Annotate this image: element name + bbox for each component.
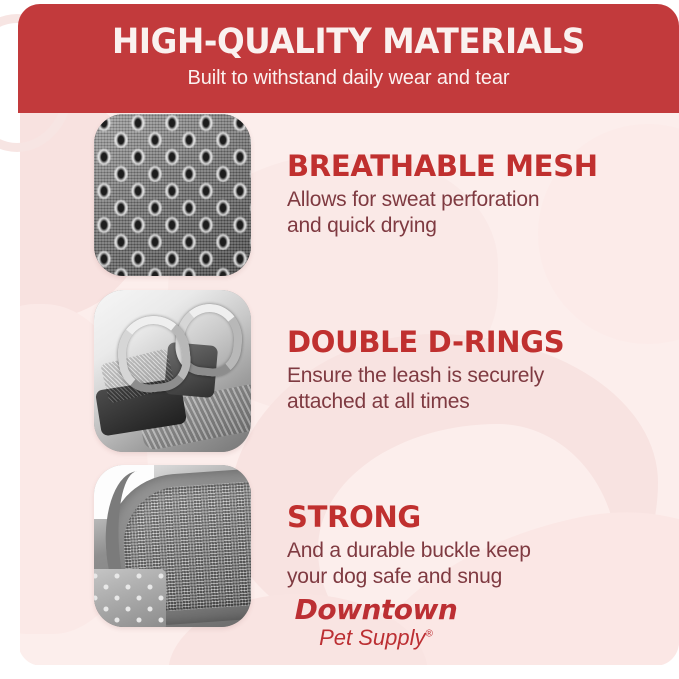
feature-text-block: BREATHABLE MESH Allows for sweat perfora… [287, 152, 598, 238]
brand-logo: Downtown Pet Supply® [266, 596, 486, 649]
brand-name-secondary: Pet Supply® [266, 627, 486, 649]
feature-heading: BREATHABLE MESH [287, 152, 598, 181]
mesh-texture [94, 114, 251, 276]
feature-text-block: DOUBLE D-RINGS Ensure the leash is secur… [287, 328, 564, 414]
feature-body-line-1: And a durable buckle keep [287, 538, 531, 564]
brand-tagline-text: Pet Supply [319, 625, 425, 650]
feature-body-line-2: attached at all times [287, 389, 564, 415]
infographic-page: HIGH-QUALITY MATERIALS Built to withstan… [0, 0, 679, 679]
bottom-margin [0, 665, 679, 679]
panel-photo-background [94, 465, 251, 627]
page-title: HIGH-QUALITY MATERIALS [41, 24, 656, 61]
feature-body-line-2: your dog safe and snug [287, 564, 531, 590]
honeycomb-mesh [94, 569, 166, 627]
drings-photo-background [94, 290, 251, 452]
breathable-mesh-image [94, 114, 251, 276]
feature-row-breathable-mesh: BREATHABLE MESH Allows for sweat perfora… [94, 114, 598, 276]
feature-body-line-1: Ensure the leash is securely [287, 363, 564, 389]
header-banner: HIGH-QUALITY MATERIALS Built to withstan… [18, 4, 679, 113]
feature-heading: DOUBLE D-RINGS [287, 328, 564, 357]
feature-text-block: STRONG And a durable buckle keep your do… [287, 503, 531, 589]
registered-trademark-icon: ® [426, 629, 433, 640]
page-subtitle: Built to withstand daily wear and tear [18, 67, 679, 90]
feature-body-line-2: and quick drying [287, 213, 598, 239]
feature-body-line-1: Allows for sweat perforation [287, 187, 598, 213]
double-d-rings-image [94, 290, 251, 452]
padded-mesh-panel-image [94, 465, 251, 627]
feature-row-double-d-rings: DOUBLE D-RINGS Ensure the leash is secur… [94, 290, 564, 452]
feature-heading: STRONG [287, 503, 531, 532]
brand-name-primary: Downtown [266, 596, 486, 624]
